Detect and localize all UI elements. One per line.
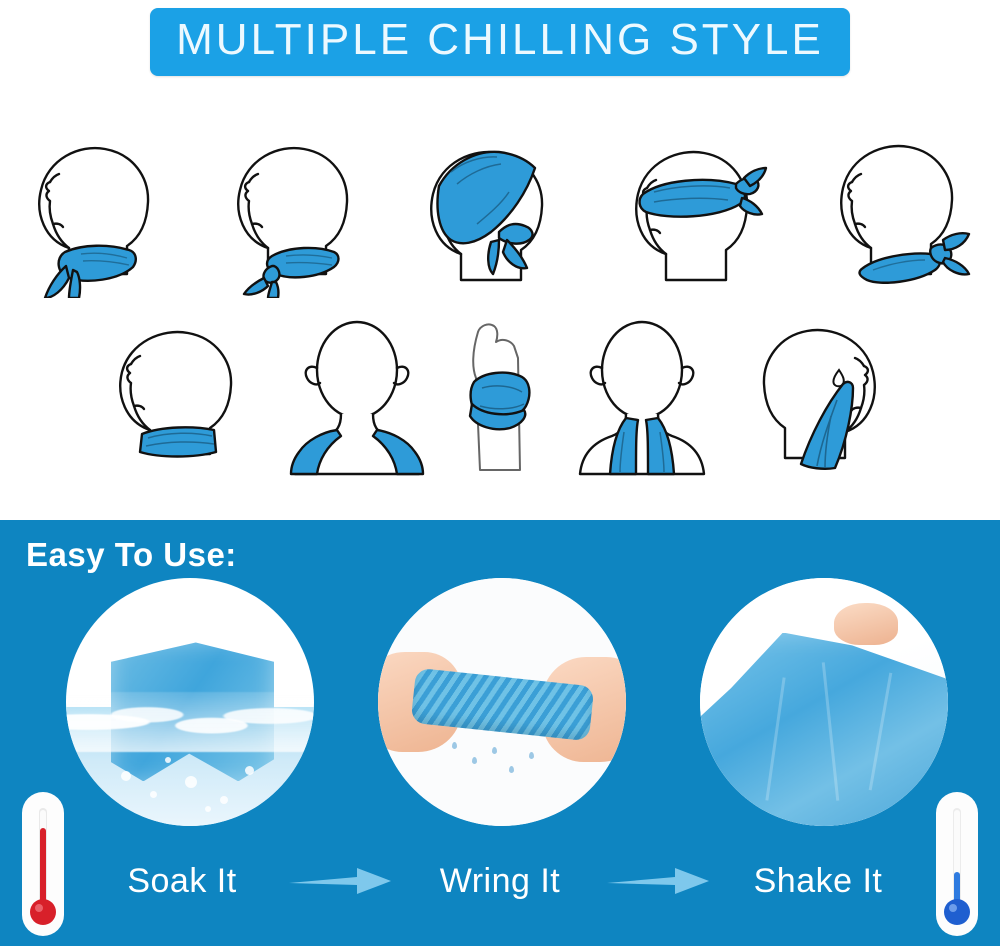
style-wrist-wrap [450,318,550,483]
title-banner-wrap: MULTIPLE CHILLING STYLE [0,8,1000,76]
title-banner: MULTIPLE CHILLING STYLE [150,8,850,76]
style-neck-scarf-knot [206,128,381,303]
style-shoulder-drape-front [560,318,725,483]
style-diagonal-headband [403,128,588,303]
photo-wring-it [378,578,626,826]
style-neck-scarf-back-knot [817,128,992,303]
photo-soak-it [66,578,314,826]
infographic-page: MULTIPLE CHILLING STYLE [0,0,1000,946]
step-label-shake: Shake It [713,861,923,901]
photo-shake-it [700,578,948,826]
chilling-styles-section [0,118,1000,518]
step-flow: Soak It Wring It Shake It [0,846,1000,916]
step-label-wring: Wring It [395,861,605,901]
easy-to-use-panel: Easy To Use: [0,520,1000,946]
step-arrow-1 [287,864,395,898]
step-arrow-2 [605,864,713,898]
bubble [121,771,131,781]
step-label-soak: Soak It [77,861,287,901]
easy-to-use-heading: Easy To Use: [26,536,237,574]
bubble [205,806,211,812]
style-forehead-headband [610,128,795,303]
style-neck-collar [90,318,265,483]
style-shoulder-drape-back [275,318,440,483]
page-title: MULTIPLE CHILLING STYLE [176,14,824,66]
styles-row-2 [0,318,1000,483]
styles-row-1 [0,128,1000,303]
style-neck-scarf-loose [9,128,184,303]
cold-thermometer-icon [926,788,988,940]
water-drop [492,747,497,754]
step-photos [0,578,1000,828]
style-face-wipe [735,318,910,483]
hot-thermometer-icon [12,788,74,940]
water-splash [66,692,314,752]
bubble [165,757,171,763]
bubble [220,796,228,804]
hand-holding-towel [834,603,898,645]
